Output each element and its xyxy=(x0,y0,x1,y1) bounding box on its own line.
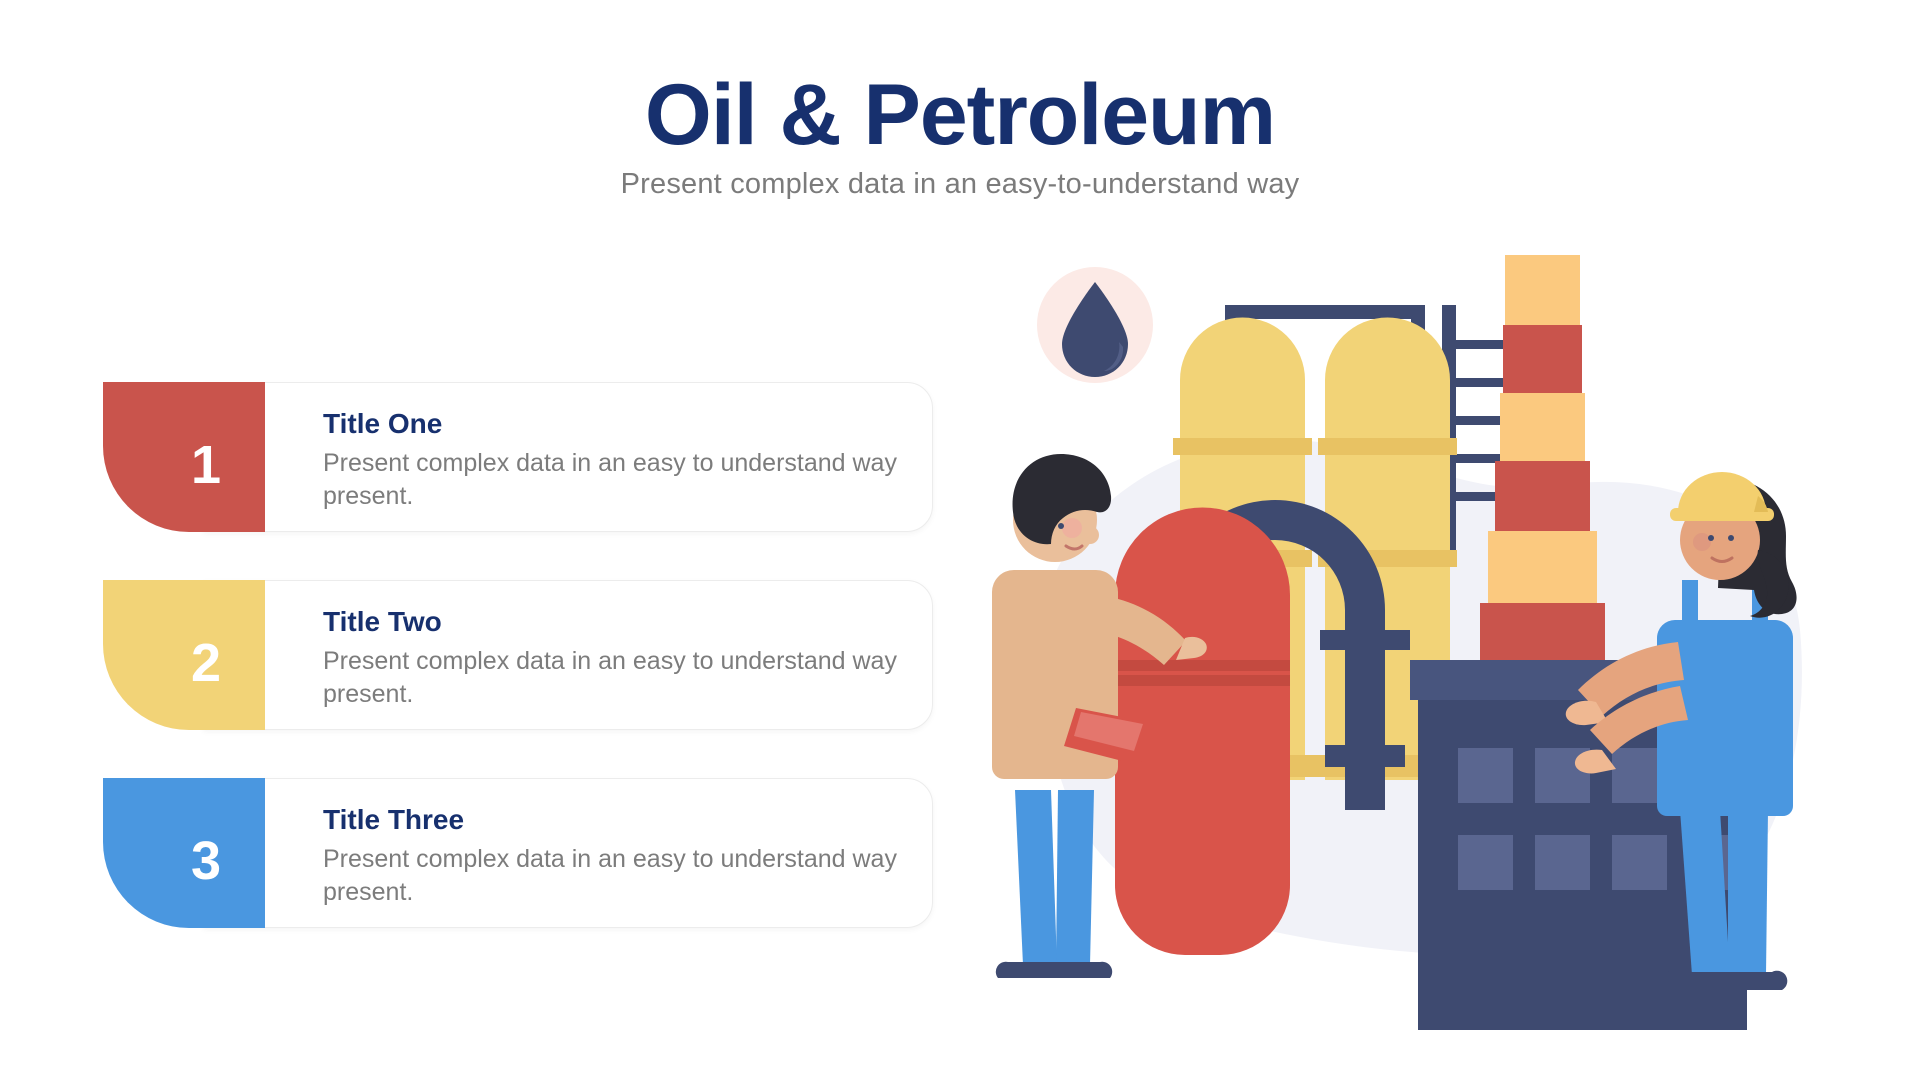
list-item-description: Present complex data in an easy to under… xyxy=(323,447,923,514)
list-item-text: Title One Present complex data in an eas… xyxy=(323,408,923,514)
list-item-badge-2: 2 xyxy=(103,580,265,730)
list-item-title: Title One xyxy=(323,408,923,440)
slide-root: Oil & Petroleum Present complex data in … xyxy=(0,0,1920,1080)
list-item-title: Title Two xyxy=(323,606,923,638)
oil-drop-badge xyxy=(1037,267,1153,383)
list-item-description: Present complex data in an easy to under… xyxy=(323,843,923,910)
smokestack xyxy=(1480,255,1605,673)
page-title: Oil & Petroleum xyxy=(0,72,1920,158)
list-item-badge-1: 1 xyxy=(103,382,265,532)
illustration-oil-refinery xyxy=(980,250,1880,1040)
slide-header: Oil & Petroleum Present complex data in … xyxy=(0,72,1920,201)
page-subtitle: Present complex data in an easy-to-under… xyxy=(0,168,1920,201)
list-item-title: Title Three xyxy=(323,804,923,836)
list-item-number: 1 xyxy=(191,438,221,492)
list-item[interactable]: 2 Title Two Present complex data in an e… xyxy=(103,580,933,730)
list-item[interactable]: 1 Title One Present complex data in an e… xyxy=(103,382,933,532)
list-item-text: Title Two Present complex data in an eas… xyxy=(323,606,923,712)
feature-list: 1 Title One Present complex data in an e… xyxy=(103,382,933,976)
list-item-badge-3: 3 xyxy=(103,778,265,928)
list-item-number: 2 xyxy=(191,636,221,690)
list-item-text: Title Three Present complex data in an e… xyxy=(323,804,923,910)
list-item-number: 3 xyxy=(191,834,221,888)
list-item-description: Present complex data in an easy to under… xyxy=(323,645,923,712)
list-item[interactable]: 3 Title Three Present complex data in an… xyxy=(103,778,933,928)
